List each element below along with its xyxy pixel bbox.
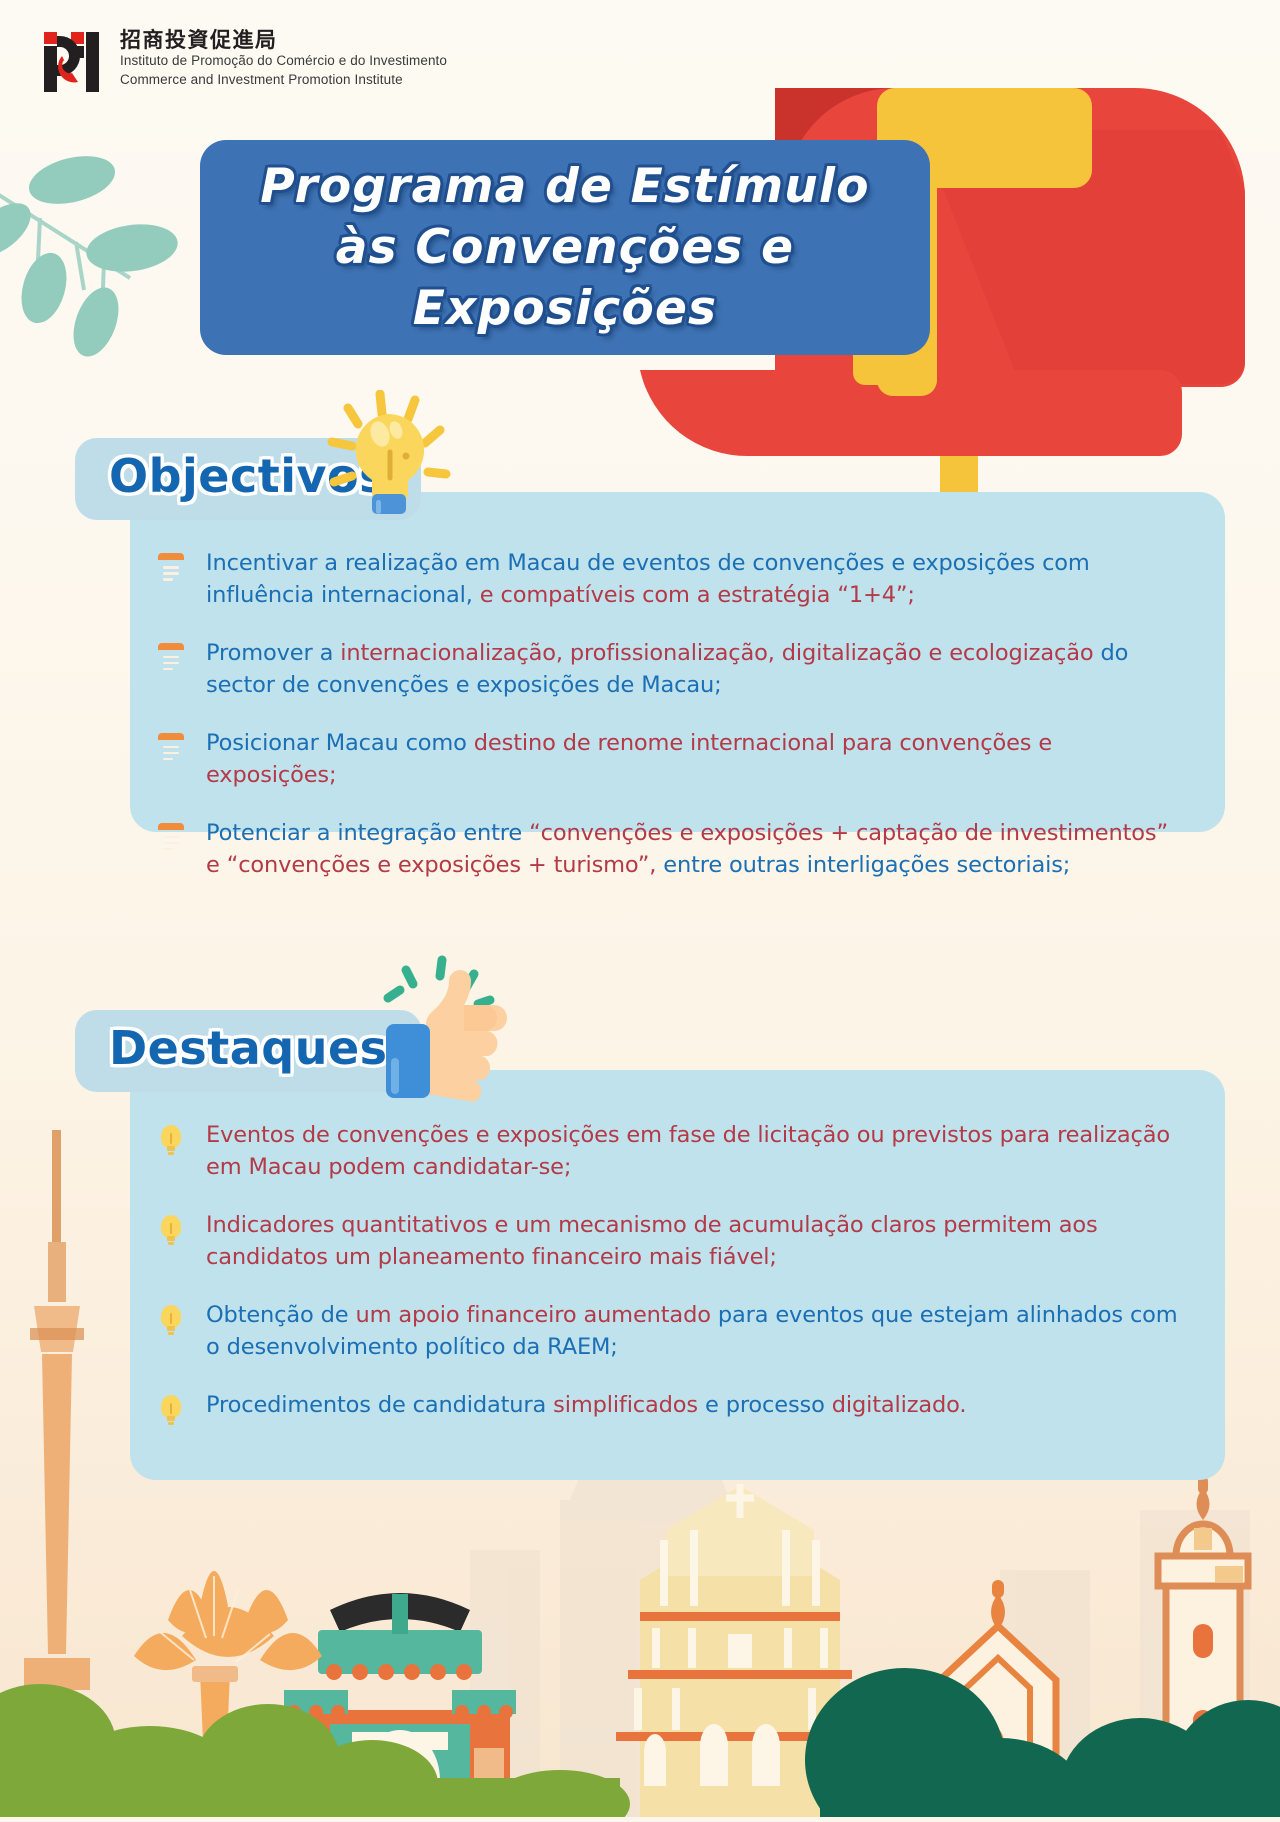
list-item: Eventos de convenções e exposições em fa…: [158, 1120, 1178, 1184]
document-icon: [158, 823, 184, 857]
lightbulb-icon: [318, 390, 468, 530]
bullet-text-a: Posicionar Macau como: [206, 730, 474, 756]
bullet-text-a: Procedimentos de candidatura: [206, 1392, 553, 1418]
bullet-text-b: Indicadores quantitativos e um mecanismo…: [206, 1212, 1098, 1270]
title-line-3: Exposições: [413, 280, 717, 337]
list-item: Posicionar Macau como destino de renome …: [158, 728, 1178, 792]
document-icon: [158, 643, 184, 677]
document-icon: [158, 553, 184, 587]
org-name-english: Commerce and Investment Promotion Instit…: [120, 71, 447, 90]
bullet-text-c: entre outras interligações sectoriais;: [663, 852, 1070, 878]
objectivos-bullet-list: Incentivar a realização em Macau de even…: [158, 548, 1178, 882]
title-banner: Programa de Estímulo às Convenções e Exp…: [200, 140, 930, 355]
bulb-icon: [158, 1395, 184, 1429]
bullet-text-b: internacionalização, profissionalização,…: [340, 640, 1100, 666]
list-item: Procedimentos de candidatura simplificad…: [158, 1390, 1178, 1429]
list-item: Incentivar a realização em Macau de even…: [158, 548, 1178, 612]
bullet-text-b: e compatíveis com a estratégia “1+4”;: [480, 582, 915, 608]
ipim-logo-icon: [42, 26, 104, 96]
bullet-text-a: Promover a: [206, 640, 340, 666]
header: 招商投資促進局 Instituto de Promoção do Comérci…: [42, 26, 447, 96]
leaf-branch-icon: [0, 130, 210, 430]
bullet-text-a: Potenciar a integração entre: [206, 820, 529, 846]
thumbs-up-icon: [366, 952, 526, 1102]
list-item: Potenciar a integração entre “convenções…: [158, 818, 1178, 882]
bullet-text-c: e processo: [705, 1392, 832, 1418]
document-icon: [158, 733, 184, 767]
destaques-bullet-list: Eventos de convenções e exposições em fa…: [158, 1120, 1178, 1429]
bulb-icon: [158, 1215, 184, 1249]
bullet-text-b: um apoio financeiro aumentado: [355, 1302, 717, 1328]
bulb-icon: [158, 1305, 184, 1339]
bullet-text-a: Obtenção de: [206, 1302, 355, 1328]
title-line-2: às Convenções e: [336, 219, 795, 276]
list-item: Promover a internacionalização, profissi…: [158, 638, 1178, 702]
org-name-portuguese: Instituto de Promoção do Comércio e do I…: [120, 52, 447, 71]
org-name-chinese: 招商投資促進局: [120, 28, 447, 52]
list-item: Obtenção de um apoio financeiro aumentad…: [158, 1300, 1178, 1364]
list-item: Indicadores quantitativos e um mecanismo…: [158, 1210, 1178, 1274]
title-line-1: Programa de Estímulo: [260, 158, 869, 215]
bullet-text-d: digitalizado.: [832, 1392, 967, 1418]
bulb-icon: [158, 1125, 184, 1159]
bullet-text-b: Eventos de convenções e exposições em fa…: [206, 1122, 1170, 1180]
bullet-text-b: simplificados: [553, 1392, 705, 1418]
destaques-heading-text: Destaques: [109, 1021, 388, 1075]
